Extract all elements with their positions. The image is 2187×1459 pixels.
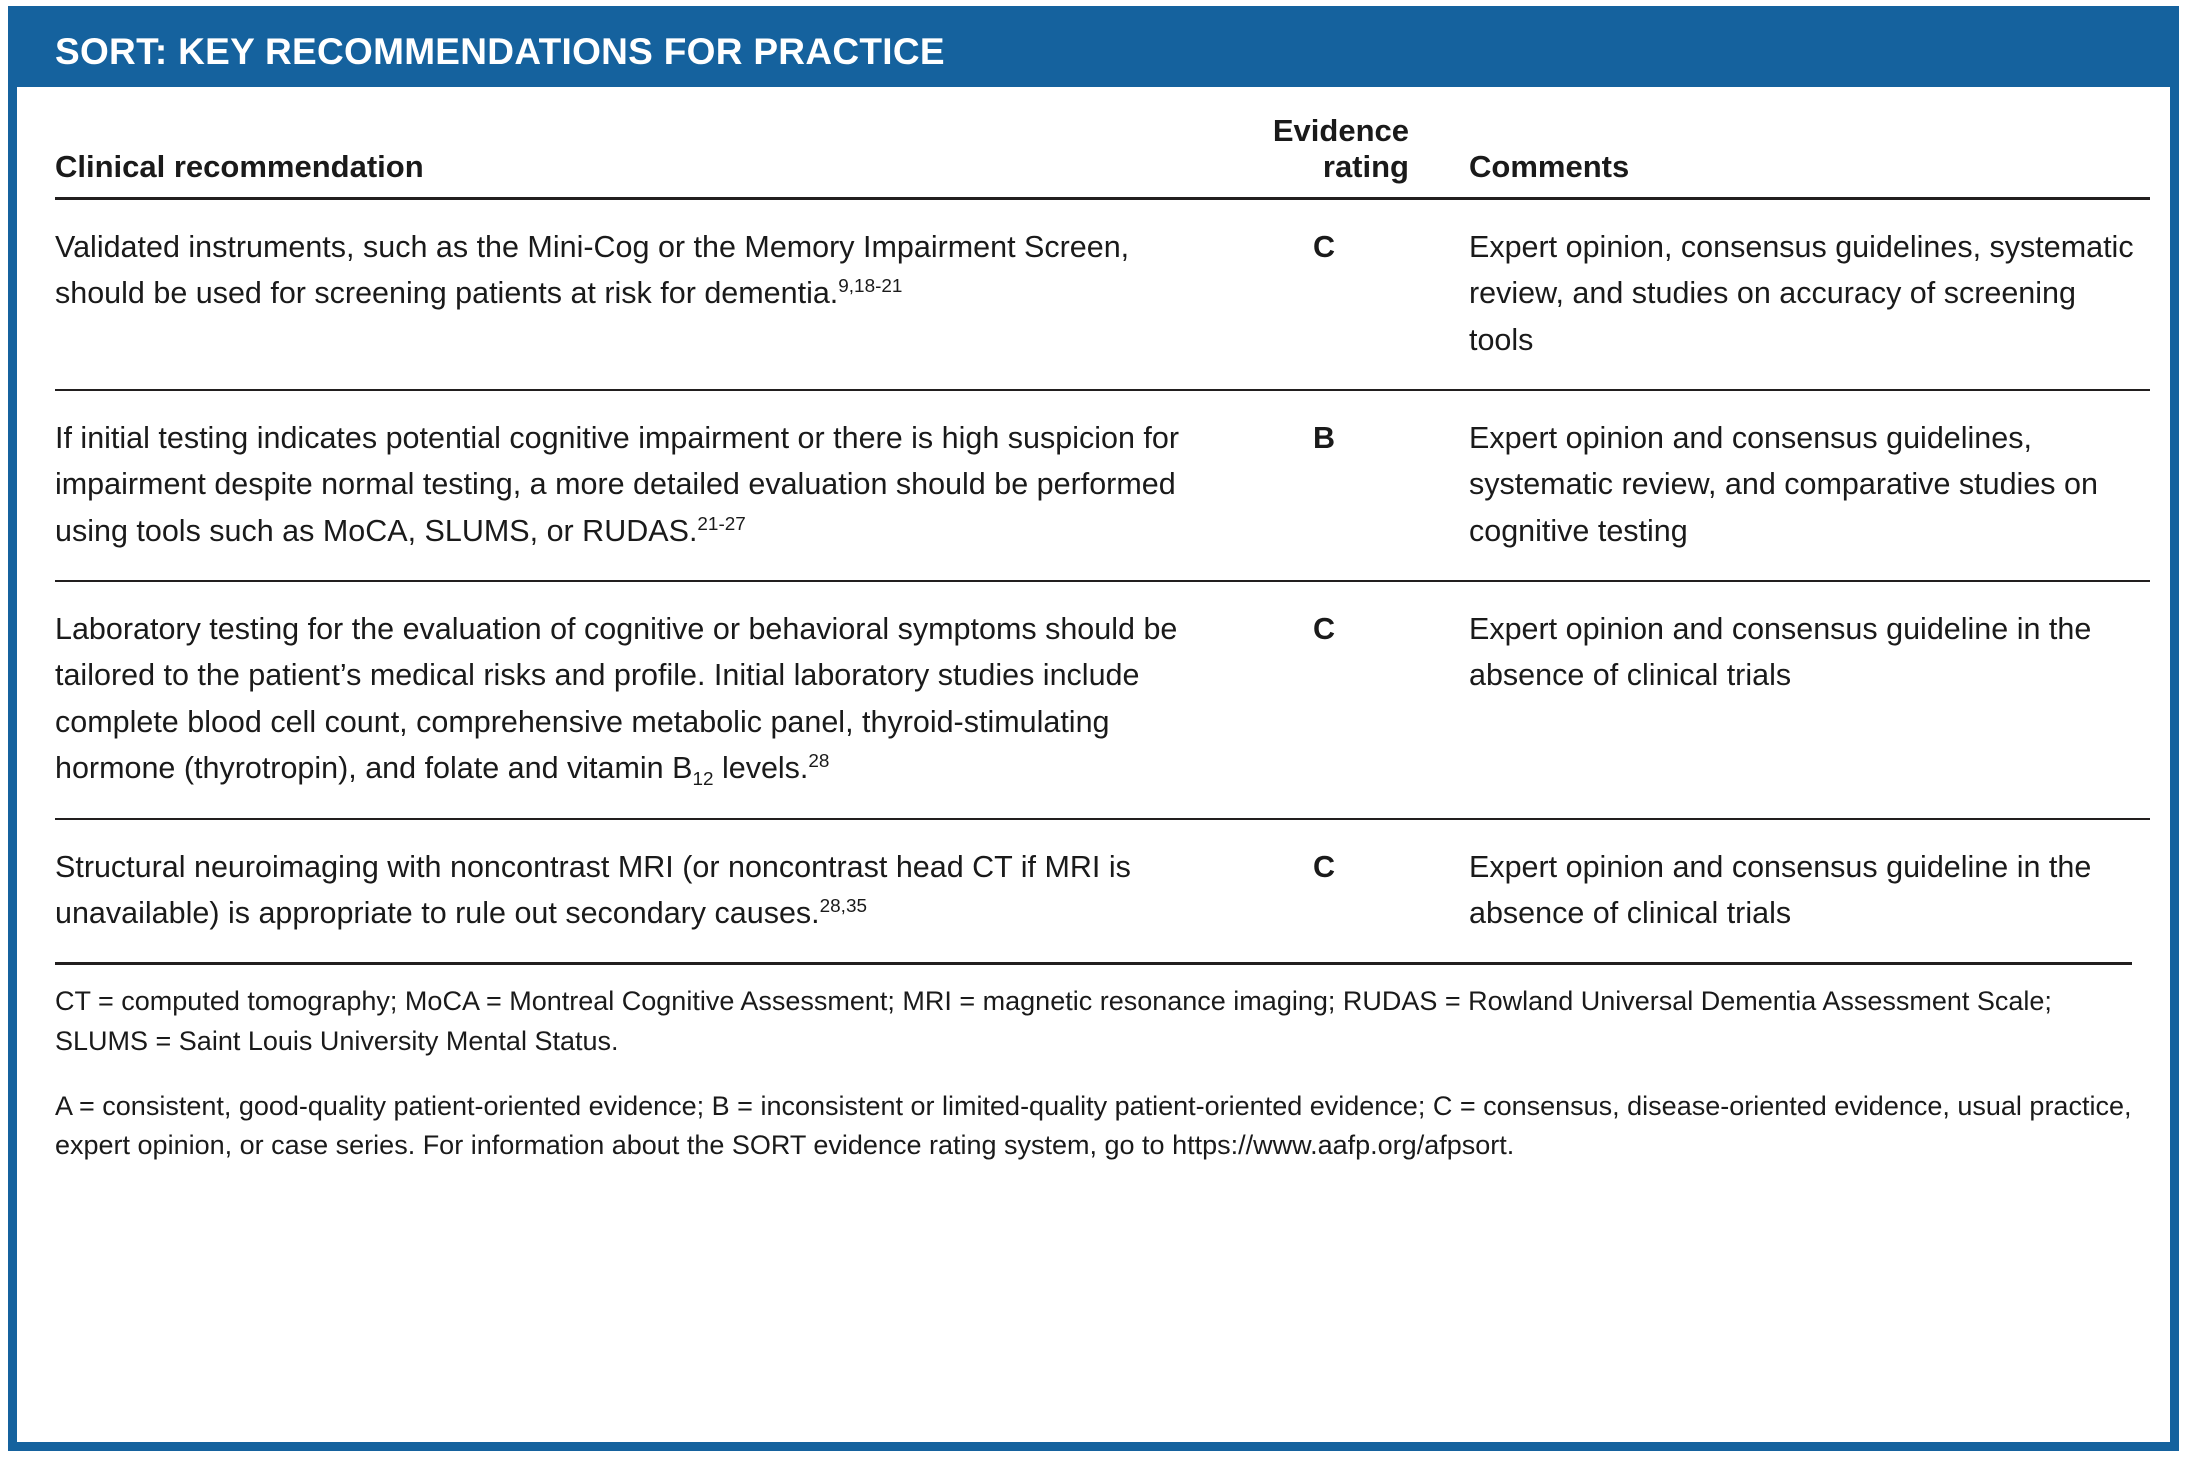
recommendation-references: 21-27: [697, 514, 745, 535]
footnote-abbreviations: CT = computed tomography; MoCA = Montrea…: [55, 965, 2132, 1061]
evidence-rating-line1: Evidence: [1273, 113, 1409, 148]
table-title-bar: SORT: KEY RECOMMENDATIONS FOR PRACTICE: [17, 15, 2170, 87]
sort-table-box: SORT: KEY RECOMMENDATIONS FOR PRACTICE C…: [8, 6, 2179, 1451]
table-row: Structural neuroimaging with noncontrast…: [55, 820, 2150, 963]
column-header-recommendation: Clinical recommendation: [55, 87, 1239, 197]
table-row: Laboratory testing for the evaluation of…: [55, 582, 2150, 817]
bottom-spacer: [55, 1166, 2132, 1200]
column-header-evidence-rating: Evidence rating: [1239, 87, 1435, 197]
recommendation-text: Structural neuroimaging with noncontrast…: [55, 850, 1131, 930]
comments-cell: Expert opinion and consensus guideline i…: [1435, 820, 2150, 963]
comments-cell: Expert opinion and consensus guideline i…: [1435, 582, 2150, 817]
recommendation-references: 28: [808, 751, 829, 772]
vitamin-b12-subscript: 12: [692, 769, 713, 790]
table-body: Clinical recommendation Evidence rating …: [17, 87, 2170, 1442]
footnote-rating-key: A = consistent, good-quality patient-ori…: [55, 1061, 2132, 1166]
comments-cell: Expert opinion, consensus guidelines, sy…: [1435, 200, 2150, 389]
recommendation-cell: Laboratory testing for the evaluation of…: [55, 582, 1239, 817]
recommendations-table: Clinical recommendation Evidence rating …: [55, 87, 2150, 962]
page: SORT: KEY RECOMMENDATIONS FOR PRACTICE C…: [0, 0, 2187, 1459]
evidence-rating-cell: C: [1239, 820, 1435, 963]
footnotes: CT = computed tomography; MoCA = Montrea…: [55, 965, 2132, 1166]
evidence-rating-cell: C: [1239, 200, 1435, 389]
comments-cell: Expert opinion and consensus guidelines,…: [1435, 391, 2150, 580]
recommendation-references: 28,35: [820, 896, 867, 917]
recommendation-text-tail: levels.: [713, 751, 808, 785]
evidence-rating-cell: B: [1239, 391, 1435, 580]
evidence-rating-line2: rating: [1323, 149, 1409, 184]
recommendation-cell: Validated instruments, such as the Mini-…: [55, 200, 1239, 389]
recommendation-text: Laboratory testing for the evaluation of…: [55, 612, 1177, 785]
table-row: If initial testing indicates potential c…: [55, 391, 2150, 580]
table-row: Validated instruments, such as the Mini-…: [55, 200, 2150, 389]
evidence-rating-cell: C: [1239, 582, 1435, 817]
column-header-comments: Comments: [1435, 87, 2150, 197]
recommendation-references: 9,18-21: [838, 276, 902, 297]
recommendation-text: If initial testing indicates potential c…: [55, 421, 1179, 548]
recommendation-cell: Structural neuroimaging with noncontrast…: [55, 820, 1239, 963]
recommendation-text: Validated instruments, such as the Mini-…: [55, 230, 1129, 310]
table-header-row: Clinical recommendation Evidence rating …: [55, 87, 2150, 197]
recommendation-cell: If initial testing indicates potential c…: [55, 391, 1239, 580]
page-title: SORT: KEY RECOMMENDATIONS FOR PRACTICE: [55, 33, 945, 70]
